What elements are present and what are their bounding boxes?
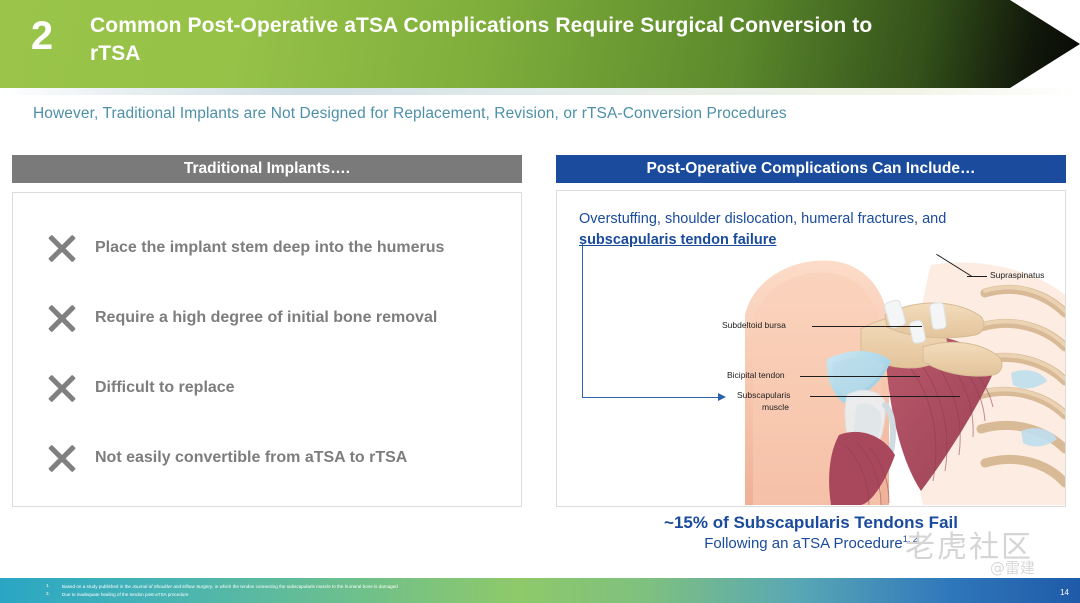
statistic-caption-line1: ~15% of Subscapularis Tendons Fail (556, 513, 1066, 533)
list-item: Not easily convertible from aTSA to rTSA (13, 423, 521, 493)
complications-description-emphasis: subscapularis tendon failure (579, 232, 776, 248)
anatomy-label-supraspinatus: Supraspinatus (990, 270, 1044, 280)
left-panel-body: Place the implant stem deep into the hum… (12, 192, 522, 507)
left-panel-header: Traditional Implants…. (12, 155, 522, 183)
footnote-2-text: Due to inadequate healing of the tendon … (62, 591, 188, 598)
complications-description: Overstuffing, shoulder dislocation, hume… (579, 209, 1019, 251)
anatomy-label-subscapularis-muscle: muscle (762, 402, 789, 412)
list-item: Require a high degree of initial bone re… (13, 283, 521, 353)
leader-line-subdeltoid-bursa (812, 326, 922, 327)
list-item-label: Difficult to replace (95, 379, 235, 397)
statistic-caption: ~15% of Subscapularis Tendons Fail Follo… (556, 513, 1066, 552)
x-mark-icon (41, 228, 81, 268)
list-item-label: Place the implant stem deep into the hum… (95, 239, 444, 257)
x-mark-icon (41, 298, 81, 338)
anatomy-label-subscapularis: Subscapularis (737, 390, 790, 400)
slide-subtitle: However, Traditional Implants are Not De… (33, 105, 787, 123)
footnote-1-text: Based on a study published in the Journa… (62, 583, 398, 590)
list-item: Difficult to replace (13, 353, 521, 423)
footnote-1-number: 1. (46, 583, 50, 588)
complications-description-plain: Overstuffing, shoulder dislocation, hume… (579, 211, 946, 227)
anatomy-label-bicipital-tendon: Bicipital tendon (727, 370, 785, 380)
list-item-label: Require a high degree of initial bone re… (95, 309, 437, 327)
statistic-caption-line2-text: Following an aTSA Procedure (704, 535, 902, 552)
footnote-1-after: , in which the tendon connecting the sub… (212, 584, 398, 589)
footnote-2-before: Due to inadequate healing of the tendon … (62, 592, 188, 597)
leader-line-subscapularis-muscle (810, 396, 960, 397)
right-panel-header: Post-Operative Complications Can Include… (556, 155, 1066, 183)
connector-line-horizontal (582, 397, 722, 398)
shoulder-anatomy-illustration (735, 255, 1065, 505)
list-item: Place the implant stem deep into the hum… (13, 213, 521, 283)
x-mark-icon (41, 368, 81, 408)
leader-line-bicipital-tendon (800, 376, 920, 377)
traditional-implants-list: Place the implant stem deep into the hum… (13, 213, 521, 493)
footnote-1-before: Based on a study published in the (62, 584, 132, 589)
slide-number-badge: 2 (18, 12, 66, 60)
statistic-caption-superscript: 1, 2 (903, 534, 918, 544)
header-underglow-divider (0, 88, 1080, 95)
statistic-caption-line2: Following an aTSA Procedure1, 2 (556, 534, 1066, 552)
x-mark-icon (41, 438, 81, 478)
connector-arrowhead-icon (718, 393, 726, 401)
watermark-sub: @雷建 (990, 557, 1035, 578)
list-item-label: Not easily convertible from aTSA to rTSA (95, 449, 407, 467)
footnote-2-number: 2. (46, 591, 50, 596)
connector-line-vertical (582, 243, 583, 398)
anatomy-label-subdeltoid-bursa: Subdeltoid bursa (722, 320, 786, 330)
slide-title: Common Post-Operative aTSA Complications… (90, 12, 880, 68)
page-number: 14 (1060, 588, 1069, 597)
footnote-1-italic: Journal of Shoulder and Elbow Surgery (132, 584, 212, 589)
